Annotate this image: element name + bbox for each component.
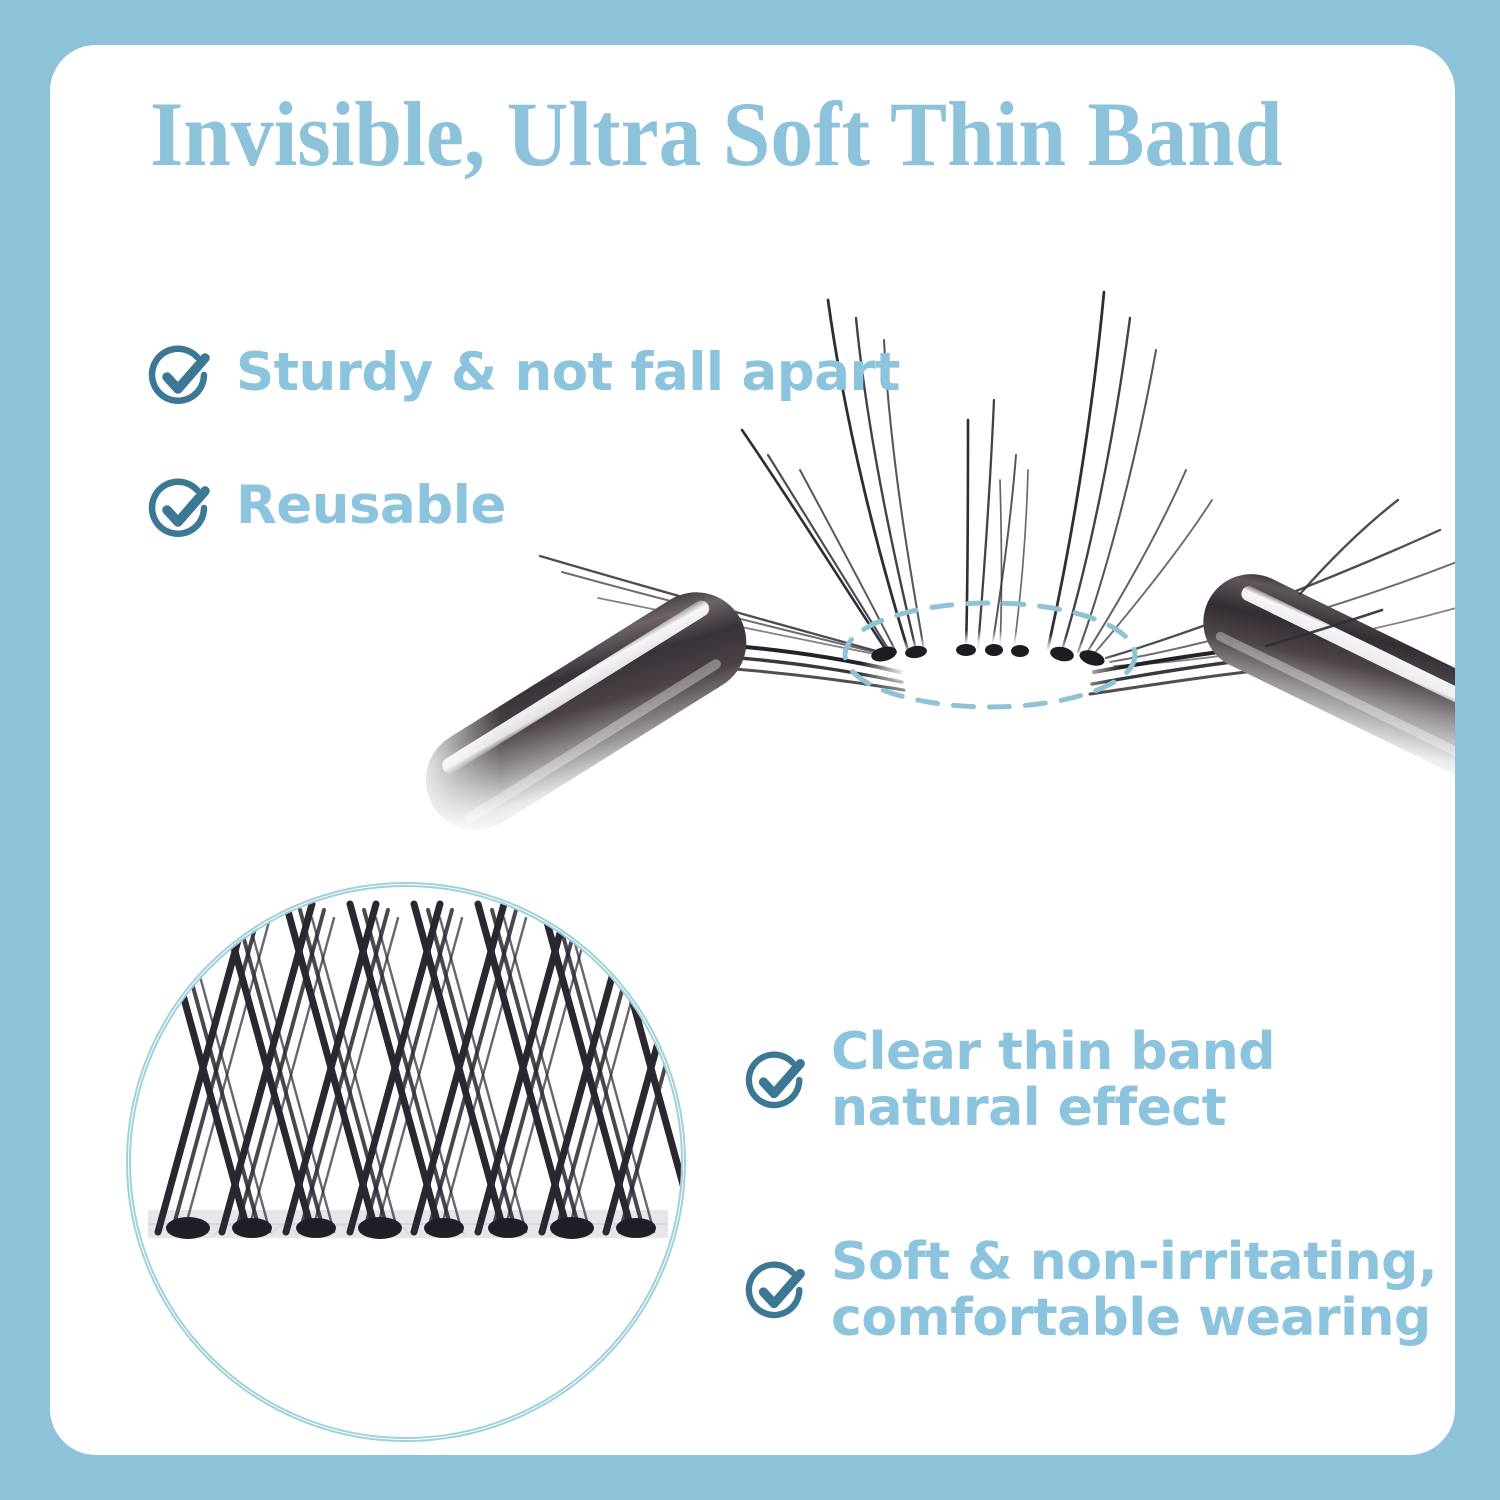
lash-band-macro-inset	[126, 882, 686, 1442]
feature-item-soft: Soft & non-irritating, comfortable weari…	[745, 1234, 1437, 1346]
feature-label: Clear thin band natural effect	[831, 1024, 1275, 1136]
feature-label: Soft & non-irritating, comfortable weari…	[831, 1234, 1437, 1346]
check-circle-icon	[745, 1050, 809, 1114]
product-feature-graphic: Invisible, Ultra Soft Thin Band	[0, 0, 1500, 1500]
page-title: Invisible, Ultra Soft Thin Band	[150, 88, 1303, 180]
feature-label: Sturdy & not fall apart	[236, 344, 900, 401]
check-circle-icon	[148, 344, 214, 410]
check-circle-icon	[148, 477, 214, 543]
feature-label: Reusable	[236, 477, 506, 534]
feature-item-sturdy: Sturdy & not fall apart	[148, 344, 900, 410]
feature-item-clear-band: Clear thin band natural effect	[745, 1024, 1275, 1136]
check-circle-icon	[745, 1260, 809, 1324]
feature-item-reusable: Reusable	[148, 477, 506, 543]
